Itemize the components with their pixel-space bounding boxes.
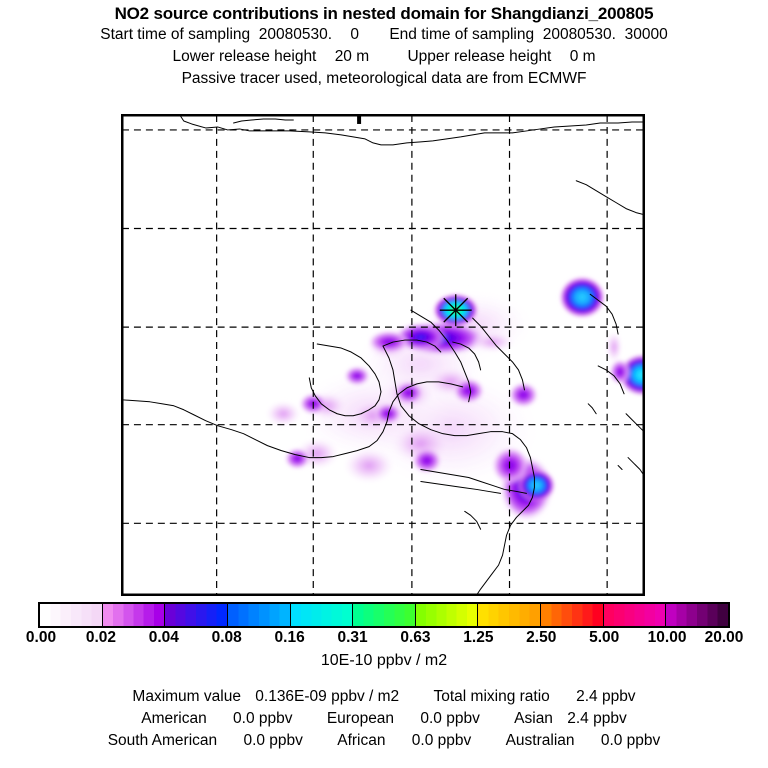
source-name-australian: Australian <box>506 732 575 749</box>
map-canvas <box>122 115 644 595</box>
source-value-american: 0.0 ppbv <box>233 710 292 727</box>
colorbar-tick-5: 0.31 <box>337 629 367 647</box>
colorbar-segment-2 <box>165 604 228 626</box>
colorbar-segment-3 <box>228 604 291 626</box>
sampling-time-line: Start time of sampling 20080530. 0 End t… <box>0 24 768 46</box>
colorbar-segment-8 <box>541 604 604 626</box>
footer-stats: Maximum value 0.136E-09 ppbv / m2 Total … <box>0 686 768 752</box>
header-block: NO2 source contributions in nested domai… <box>0 0 768 90</box>
lower-release-label: Lower release height <box>172 48 316 65</box>
colorbar-segment-1 <box>103 604 166 626</box>
colorbar-tick-4: 0.16 <box>275 629 305 647</box>
colorbar-segment-7 <box>478 604 541 626</box>
colorbar-tick-labels: 0.000.020.040.080.160.310.631.252.505.00… <box>0 629 768 649</box>
release-site-marker <box>440 294 472 326</box>
page-title: NO2 source contributions in nested domai… <box>0 3 768 24</box>
lower-release-value: 20 m <box>335 48 369 65</box>
source-value-european: 0.0 ppbv <box>420 710 479 727</box>
release-height-line: Lower release height 20 m Upper release … <box>0 46 768 68</box>
colorbar-segment-6 <box>416 604 479 626</box>
colorbar-segment-0 <box>40 604 103 626</box>
colorbar-tick-9: 5.00 <box>589 629 619 647</box>
source-name-european: European <box>327 710 394 727</box>
colorbar-tick-8: 2.50 <box>526 629 556 647</box>
colorbar-segment-4 <box>291 604 354 626</box>
colorbar-tick-7: 1.25 <box>463 629 493 647</box>
colorbar-unit-label: 10E-10 ppbv / m2 <box>0 652 768 670</box>
source-value-australian: 0.0 ppbv <box>601 732 660 749</box>
colorbar-segment-10 <box>666 604 728 626</box>
source-name-american: American <box>141 710 206 727</box>
source-name-south-american: South American <box>108 732 217 749</box>
colorbar-segment-9 <box>604 604 667 626</box>
source-row-2: South American 0.0 ppbv African 0.0 ppbv… <box>0 730 768 752</box>
upper-release-label: Upper release height <box>407 48 551 65</box>
colorbar-tick-2: 0.04 <box>149 629 179 647</box>
source-value-asian: 2.4 ppbv <box>567 710 626 727</box>
colorbar-tick-11: 20.00 <box>705 629 744 647</box>
source-name-african: African <box>337 732 385 749</box>
max-value-line: Maximum value 0.136E-09 ppbv / m2 Total … <box>0 686 768 708</box>
start-date-value: 20080530. <box>259 26 332 43</box>
colorbar[interactable] <box>38 602 730 628</box>
tracer-note: Passive tracer used, meteorological data… <box>0 68 768 90</box>
colorbar-segment-5 <box>353 604 416 626</box>
source-name-asian: Asian <box>514 710 553 727</box>
colorbar-tick-0: 0.00 <box>26 629 56 647</box>
start-time-label: Start time of sampling <box>100 26 250 43</box>
end-date-value: 20080530. <box>543 26 616 43</box>
start-time-value: 0 <box>350 26 359 43</box>
source-value-south-american: 0.0 ppbv <box>243 732 302 749</box>
max-value-label: Maximum value <box>132 688 241 705</box>
colorbar-tick-3: 0.08 <box>212 629 242 647</box>
end-time-value: 30000 <box>625 26 668 43</box>
total-mixing-ratio-label: Total mixing ratio <box>433 688 549 705</box>
max-value-value: 0.136E-09 ppbv / m2 <box>255 688 399 705</box>
colorbar-wrapper <box>38 602 730 628</box>
colorbar-tick-6: 0.63 <box>400 629 430 647</box>
colorbar-tick-10: 10.00 <box>648 629 687 647</box>
upper-release-value: 0 m <box>570 48 596 65</box>
end-time-label: End time of sampling <box>389 26 534 43</box>
map-plot-panel <box>121 114 645 596</box>
colorbar-tick-1: 0.02 <box>86 629 116 647</box>
source-row-1: American 0.0 ppbv European 0.0 ppbv Asia… <box>0 708 768 730</box>
source-value-african: 0.0 ppbv <box>412 732 471 749</box>
total-mixing-ratio-value: 2.4 ppbv <box>576 688 635 705</box>
